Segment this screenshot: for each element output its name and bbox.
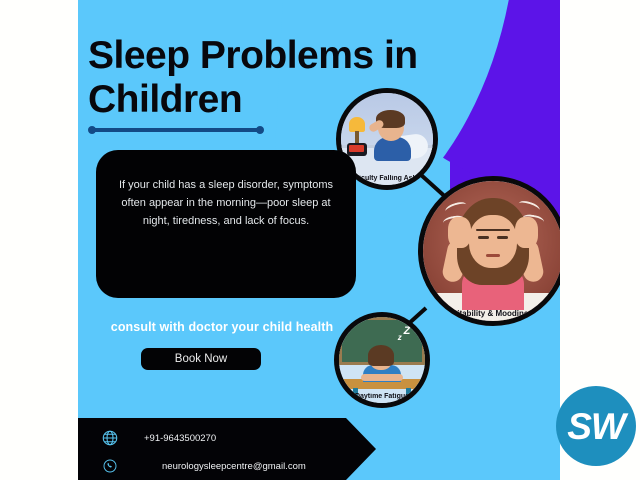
symptom-label-2: Irritability & Moodiness bbox=[423, 309, 560, 318]
title-line-1: Sleep Problems in bbox=[88, 34, 508, 78]
contact-footer-bar: +91-9643500270 neurologysleepcentre@gmai… bbox=[78, 418, 376, 480]
symptom-circle-irritability-moodiness[interactable]: Irritability & Moodiness bbox=[418, 176, 560, 326]
sleep-problems-poster: Sleep Problems in Children If your child… bbox=[78, 0, 560, 480]
page-title: Sleep Problems in Children bbox=[88, 34, 508, 132]
sw-watermark-text: SW bbox=[567, 408, 625, 445]
contact-phone-row[interactable]: +91-9643500270 bbox=[100, 428, 216, 448]
book-now-button[interactable]: Book Now bbox=[141, 348, 261, 370]
email-address-text: neurologysleepcentre@gmail.com bbox=[162, 461, 306, 472]
title-line-2: Children bbox=[88, 78, 508, 122]
frustrated-child-illustration bbox=[423, 181, 560, 321]
title-underline-decoration bbox=[90, 128, 262, 132]
description-card: If your child has a sleep disorder, symp… bbox=[96, 150, 356, 298]
globe-icon bbox=[100, 428, 120, 448]
contact-email-row[interactable]: neurologysleepcentre@gmail.com bbox=[100, 456, 306, 476]
symptom-label-3: Daytime Fatigue bbox=[339, 393, 425, 400]
screenshot-canvas: Sleep Problems in Children If your child… bbox=[0, 0, 640, 480]
phone-circle-icon bbox=[100, 456, 120, 476]
cta-heading: consult with doctor your child health bbox=[92, 320, 352, 334]
description-text: If your child has a sleep disorder, symp… bbox=[110, 176, 342, 230]
sw-watermark-badge: SW bbox=[556, 386, 636, 466]
phone-number-text: +91-9643500270 bbox=[144, 433, 216, 444]
